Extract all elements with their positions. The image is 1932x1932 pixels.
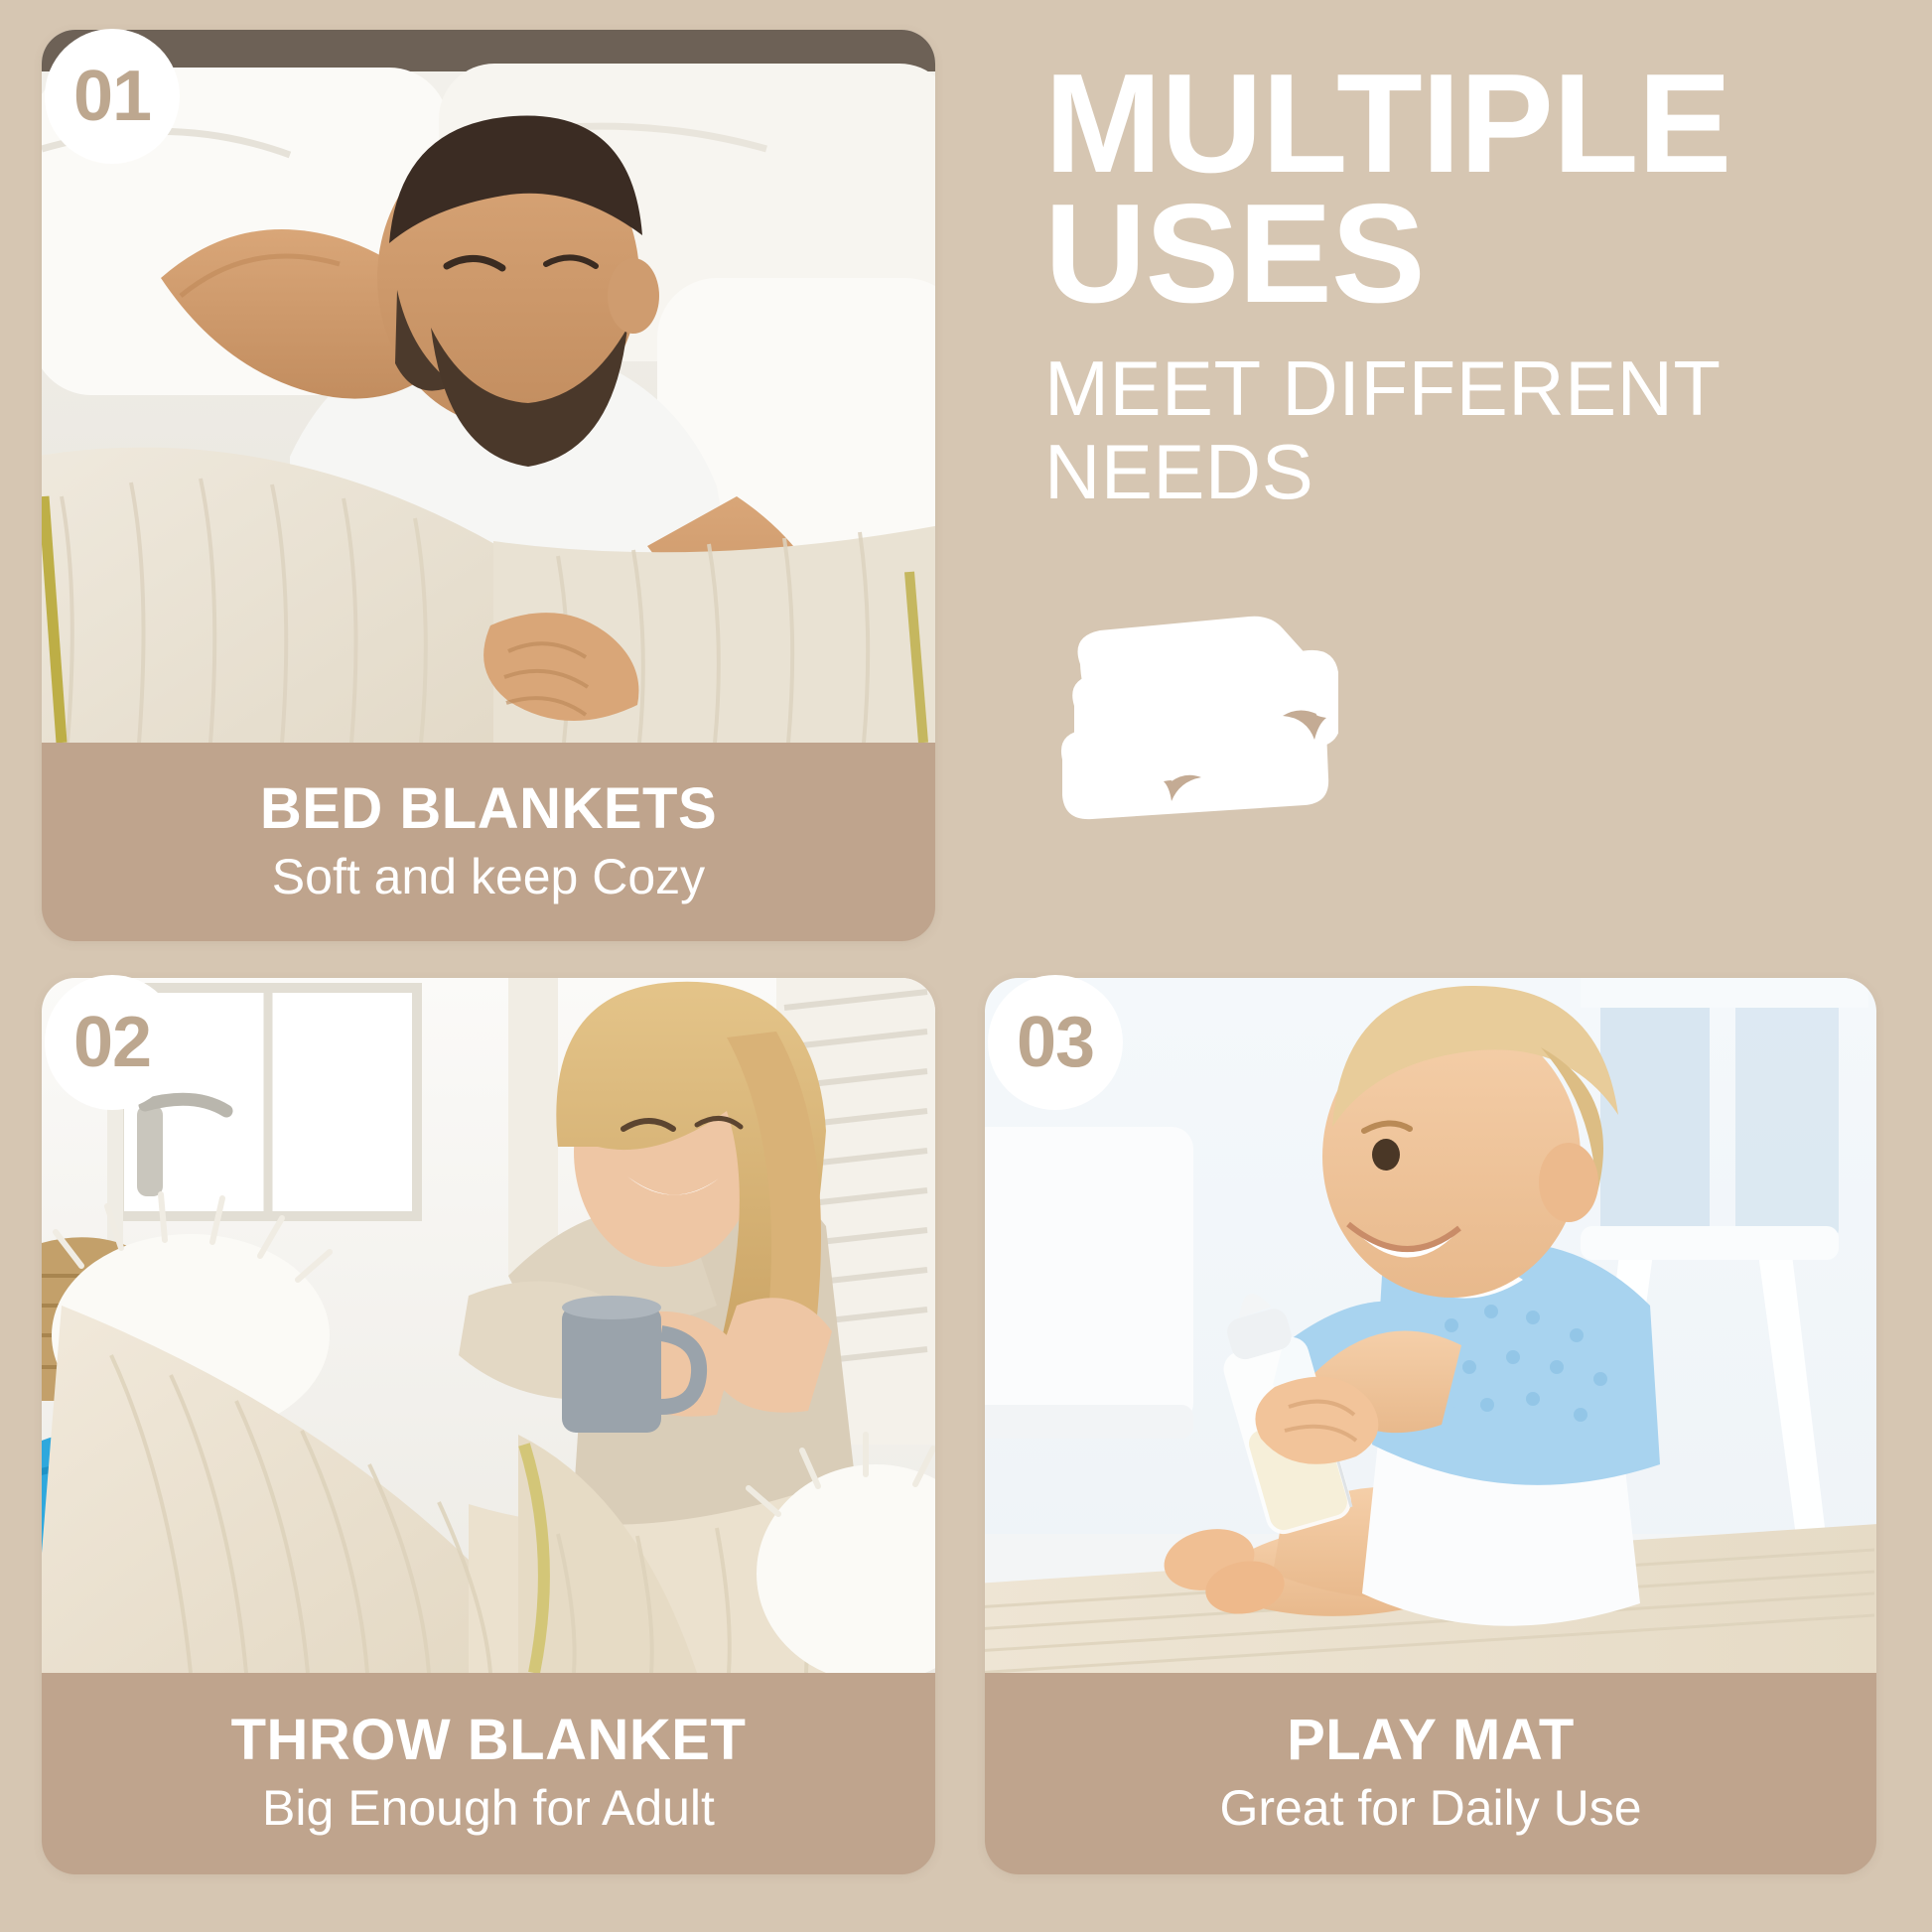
card-number-badge-01: 01 — [45, 29, 180, 164]
card-caption-throw-blanket: THROW BLANKET Big Enough for Adult — [42, 1673, 935, 1874]
card-caption-bed-blankets: BED BLANKETS Soft and keep Cozy — [42, 743, 935, 941]
baby-on-mat-illustration — [985, 978, 1876, 1673]
subhead-line-2: NEEDS — [1044, 428, 1313, 515]
card-caption-play-mat: PLAY MAT Great for Daily Use — [985, 1673, 1876, 1874]
subhead-line-1: MEET DIFFERENT — [1044, 345, 1722, 432]
card-subtitle: Soft and keep Cozy — [272, 850, 705, 904]
card-subtitle: Great for Daily Use — [1219, 1781, 1641, 1836]
use-case-card-throw-blanket[interactable]: THROW BLANKET Big Enough for Adult — [42, 978, 935, 1874]
headline-line-2: USES — [1044, 175, 1425, 333]
card-photo-play-mat — [985, 978, 1876, 1673]
header-block: MULTIPLE USES MEET DIFFERENT NEEDS — [1044, 60, 1898, 514]
card-title: THROW BLANKET — [231, 1712, 747, 1769]
card-photo-throw-blanket — [42, 978, 935, 1673]
woman-with-mug-illustration — [42, 978, 935, 1673]
card-number-badge-02: 02 — [45, 975, 180, 1110]
card-photo-bed-blankets — [42, 30, 935, 743]
infographic-canvas: BED BLANKETS Soft and keep Cozy 01 — [0, 0, 1932, 1932]
page-title: MULTIPLE USES — [1044, 60, 1898, 319]
card-title: PLAY MAT — [1287, 1712, 1575, 1769]
sleeping-man-illustration — [42, 30, 935, 743]
use-case-card-play-mat[interactable]: PLAY MAT Great for Daily Use — [985, 978, 1876, 1874]
card-number-badge-03: 03 — [988, 975, 1123, 1110]
stacked-folded-blankets-icon — [1040, 611, 1338, 859]
card-title: BED BLANKETS — [260, 780, 717, 838]
card-subtitle: Big Enough for Adult — [262, 1781, 715, 1836]
use-case-card-bed-blankets[interactable]: BED BLANKETS Soft and keep Cozy — [42, 30, 935, 941]
page-subtitle: MEET DIFFERENT NEEDS — [1044, 346, 1898, 513]
